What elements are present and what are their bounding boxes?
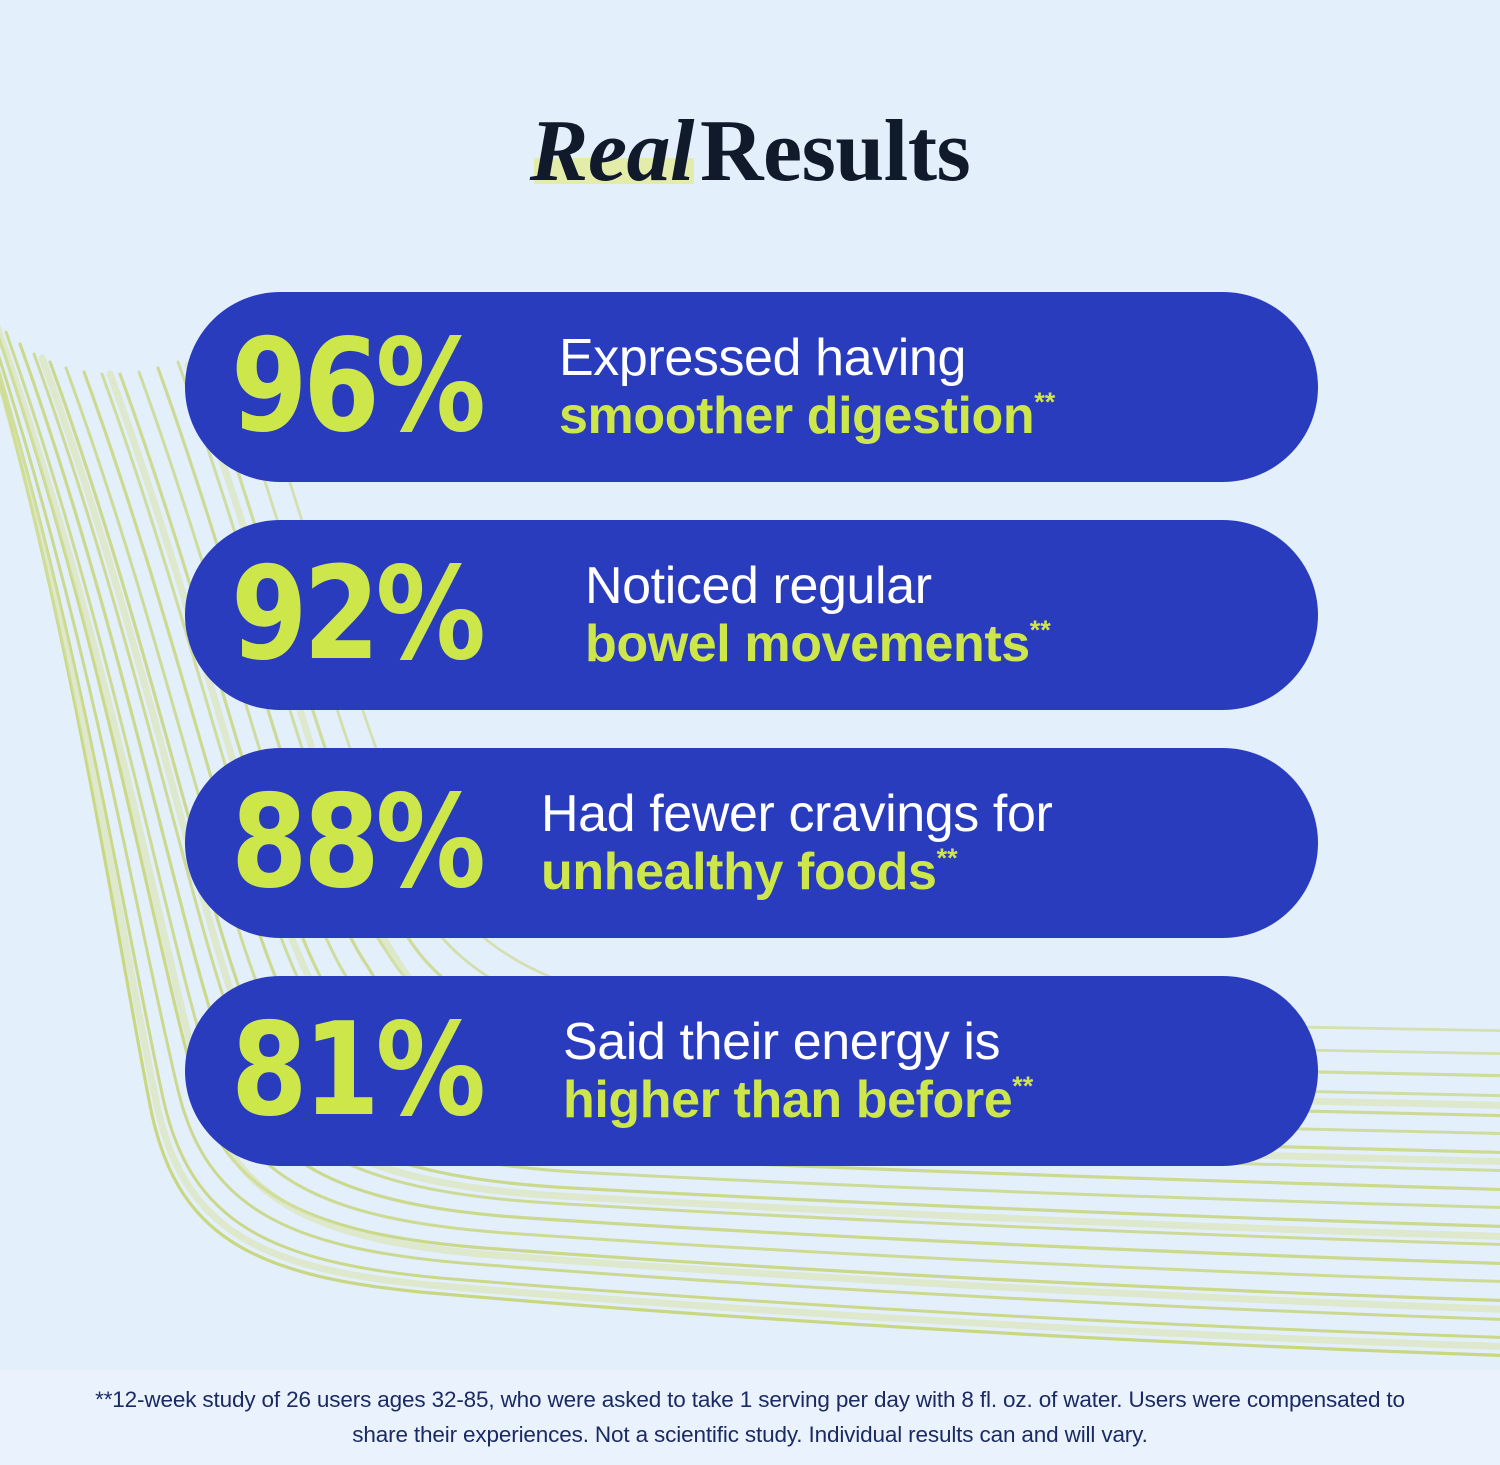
stat-pill: 88% Had fewer cravings for unhealthy foo… [185,748,1318,938]
stat-line-1: Had fewer cravings for [541,785,1276,843]
footnote-text: **12-week study of 26 users ages 32-85, … [85,1383,1415,1451]
stat-line-2-label: smoother digestion [559,387,1034,445]
stat-line-2-label: bowel movements [585,615,1030,673]
stat-description: Had fewer cravings for unhealthy foods** [541,785,1276,901]
stat-line-2: higher than before** [563,1071,1276,1129]
footnote-marker: ** [1034,387,1055,417]
title-real-label: Real [530,103,694,200]
page-title: RealResults [0,106,1500,198]
stat-pill: 92% Noticed regular bowel movements** [185,520,1318,710]
stat-line-1: Expressed having [559,329,1276,387]
stat-percent: 96% [231,323,498,451]
stat-pill: 81% Said their energy is higher than bef… [185,976,1318,1166]
footnote-marker: ** [1030,615,1051,645]
footnote-strip: **12-week study of 26 users ages 32-85, … [0,1370,1500,1465]
stat-line-2-label: higher than before [563,1071,1012,1129]
stat-description: Said their energy is higher than before*… [541,1013,1276,1129]
stat-pill-list: 96% Expressed having smoother digestion*… [185,292,1318,1166]
title-word-real: Real [530,106,700,198]
stat-percent: 88% [231,779,498,907]
title-text: RealResults [530,106,971,198]
footnote-marker: ** [937,843,958,873]
stat-percent: 92% [231,551,498,679]
stat-line-2: bowel movements** [585,615,1276,673]
stat-description: Noticed regular bowel movements** [541,557,1276,673]
stat-line-2: smoother digestion** [559,387,1276,445]
stat-percent: 81% [231,1007,498,1135]
stat-line-1: Said their energy is [563,1013,1276,1071]
stat-description: Expressed having smoother digestion** [541,329,1276,445]
footnote-marker: ** [1012,1071,1033,1101]
stat-line-2: unhealthy foods** [541,843,1276,901]
stat-line-2-label: unhealthy foods [541,843,937,901]
title-word-results: Results [700,106,970,198]
stat-line-1: Noticed regular [585,557,1276,615]
stat-pill: 96% Expressed having smoother digestion*… [185,292,1318,482]
